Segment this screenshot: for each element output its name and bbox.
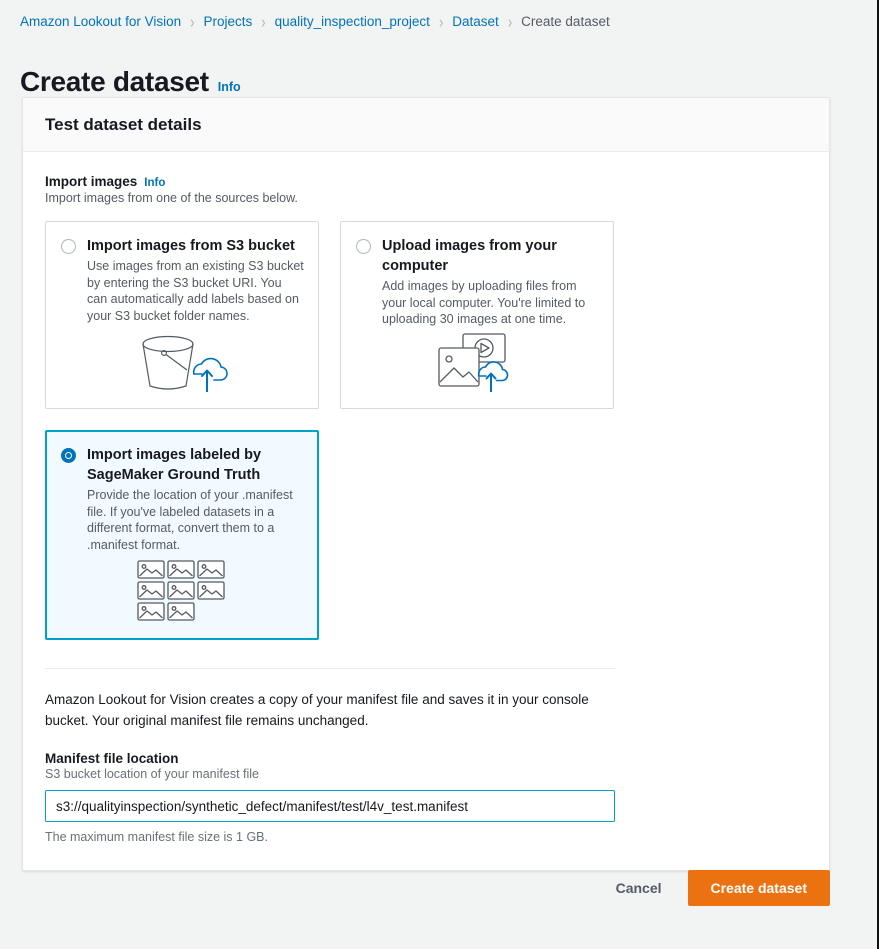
option-import-ground-truth[interactable]: Import images labeled by SageMaker Groun…	[45, 430, 319, 640]
import-images-label-row: Import images Info	[45, 174, 807, 189]
section-divider	[45, 668, 615, 669]
option-description: Provide the location of your .manifest f…	[87, 487, 304, 553]
bucket-cloud-upload-icon	[134, 332, 230, 394]
manifest-size-hint: The maximum manifest file size is 1 GB.	[45, 830, 807, 844]
breadcrumb-separator-icon: ›	[261, 10, 265, 34]
option-title: Import images labeled by SageMaker Groun…	[87, 445, 304, 485]
breadcrumb: Amazon Lookout for Vision › Projects › q…	[0, 0, 879, 31]
import-source-options: Import images from S3 bucket Use images …	[45, 221, 615, 640]
breadcrumb-item-projects[interactable]: Projects	[203, 13, 252, 31]
radio-import-ground-truth[interactable]	[61, 448, 76, 463]
card-header: Test dataset details	[23, 98, 829, 152]
breadcrumb-item-service[interactable]: Amazon Lookout for Vision	[20, 13, 181, 31]
page-title: Create dataset	[20, 66, 209, 98]
option-texts: Upload images from your computer Add ima…	[382, 236, 599, 328]
breadcrumb-separator-icon: ›	[190, 10, 194, 34]
breadcrumb-item-dataset[interactable]: Dataset	[452, 13, 499, 31]
manifest-location-sublabel: S3 bucket location of your manifest file	[45, 767, 807, 781]
option-title: Upload images from your computer	[382, 236, 599, 276]
option-illustration	[341, 332, 613, 394]
breadcrumb-separator-icon: ›	[508, 10, 512, 34]
import-images-label: Import images	[45, 174, 137, 189]
breadcrumb-item-current: Create dataset	[521, 13, 610, 31]
import-images-description: Import images from one of the sources be…	[45, 191, 807, 205]
radio-upload-from-computer[interactable]	[356, 239, 371, 254]
card-title: Test dataset details	[45, 115, 807, 135]
breadcrumb-item-project[interactable]: quality_inspection_project	[275, 13, 430, 31]
option-upload-from-computer[interactable]: Upload images from your computer Add ima…	[340, 221, 614, 409]
test-dataset-details-card: Test dataset details Import images Info …	[22, 97, 830, 871]
breadcrumb-separator-icon: ›	[439, 10, 443, 34]
option-header: Import images labeled by SageMaker Groun…	[61, 445, 304, 553]
option-illustration	[46, 332, 318, 394]
manifest-note: Amazon Lookout for Vision creates a copy…	[45, 689, 630, 731]
create-dataset-button[interactable]: Create dataset	[688, 870, 831, 906]
option-texts: Import images labeled by SageMaker Groun…	[87, 445, 304, 553]
option-description: Add images by uploading files from your …	[382, 278, 599, 328]
form-actions: Cancel Create dataset	[22, 870, 830, 906]
option-header: Import images from S3 bucket Use images …	[61, 236, 304, 324]
image-grid-icon	[137, 560, 227, 622]
manifest-location-input[interactable]	[45, 790, 615, 822]
option-texts: Import images from S3 bucket Use images …	[87, 236, 304, 324]
option-import-from-s3-bucket[interactable]: Import images from S3 bucket Use images …	[45, 221, 319, 409]
option-illustration	[47, 560, 317, 622]
option-description: Use images from an existing S3 bucket by…	[87, 258, 304, 324]
manifest-location-label: Manifest file location	[45, 751, 807, 766]
page-info-link[interactable]: Info	[218, 80, 241, 94]
import-images-info-link[interactable]: Info	[144, 177, 165, 189]
card-body: Import images Info Import images from on…	[23, 152, 829, 870]
option-header: Upload images from your computer Add ima…	[356, 236, 599, 328]
media-cloud-upload-icon	[429, 332, 525, 394]
option-title: Import images from S3 bucket	[87, 236, 304, 256]
radio-import-from-s3-bucket[interactable]	[61, 239, 76, 254]
cancel-button[interactable]: Cancel	[612, 874, 666, 902]
